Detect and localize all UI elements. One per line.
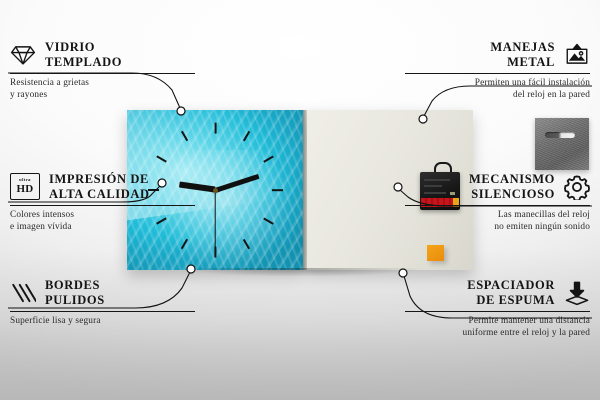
- gear-icon: [564, 174, 590, 200]
- feature-header: BORDES PULIDOS: [10, 278, 195, 307]
- feature-title: IMPRESIÓN DE ALTA CALIDAD: [49, 172, 150, 201]
- feature-header: MANEJAS METAL: [405, 40, 590, 69]
- feature-title: VIDRIO TEMPLADO: [45, 40, 122, 69]
- feature-impresion-alta-calidad[interactable]: ultra HD IMPRESIÓN DE ALTA CALIDAD Color…: [10, 172, 195, 234]
- feature-description: Resistencia a grietas y rayones: [10, 78, 195, 102]
- feature-header: MECANISMO SILENCIOSO: [405, 172, 590, 201]
- feature-description: Permite mantener una distancia uniforme …: [405, 316, 590, 340]
- feature-divider: [405, 73, 590, 74]
- feature-description: Superficie lisa y segura: [10, 316, 195, 328]
- infographic-stage: VIDRIO TEMPLADO Resistencia a grietas y …: [0, 0, 600, 400]
- hanger-slot: [545, 132, 575, 138]
- metal-hanger-plate: [535, 118, 589, 170]
- feature-divider: [10, 73, 195, 74]
- feature-header: ultra HD IMPRESIÓN DE ALTA CALIDAD: [10, 172, 195, 201]
- polished-edges-icon: [10, 280, 36, 306]
- feature-description: Colores intensos e imagen vívida: [10, 210, 195, 234]
- diamond-icon: [10, 42, 36, 68]
- feature-title: MECANISMO SILENCIOSO: [469, 172, 555, 201]
- feature-title: ESPACIADOR DE ESPUMA: [467, 278, 555, 307]
- feature-vidrio-templado[interactable]: VIDRIO TEMPLADO Resistencia a grietas y …: [10, 40, 195, 102]
- feature-header: ESPACIADOR DE ESPUMA: [405, 278, 590, 307]
- feature-mecanismo-silencioso[interactable]: MECANISMO SILENCIOSO Las manecillas del …: [405, 172, 590, 234]
- feature-bordes-pulidos[interactable]: BORDES PULIDOS Superficie lisa y segura: [10, 278, 195, 328]
- feature-title: BORDES PULIDOS: [45, 278, 105, 307]
- feature-title: MANEJAS METAL: [490, 40, 555, 69]
- feature-espaciador-de-espuma[interactable]: ESPACIADOR DE ESPUMA Permite mantener un…: [405, 278, 590, 340]
- picture-frame-hanger-icon: [564, 42, 590, 68]
- feature-description: Las manecillas del reloj no emiten ningú…: [405, 210, 590, 234]
- feature-divider: [405, 205, 590, 206]
- feature-header: VIDRIO TEMPLADO: [10, 40, 195, 69]
- arrow-into-layers-icon: [564, 280, 590, 306]
- feature-divider: [10, 311, 195, 312]
- feature-divider: [405, 311, 590, 312]
- feature-divider: [10, 205, 195, 206]
- feature-manejas-metal[interactable]: MANEJAS METAL Permiten una fácil instala…: [405, 40, 590, 102]
- ultra-hd-icon: ultra HD: [10, 173, 40, 200]
- foam-spacer: [427, 245, 444, 261]
- ultra-hd-icon-lower: HD: [16, 184, 33, 195]
- feature-description: Permiten una fácil instalación del reloj…: [405, 78, 590, 102]
